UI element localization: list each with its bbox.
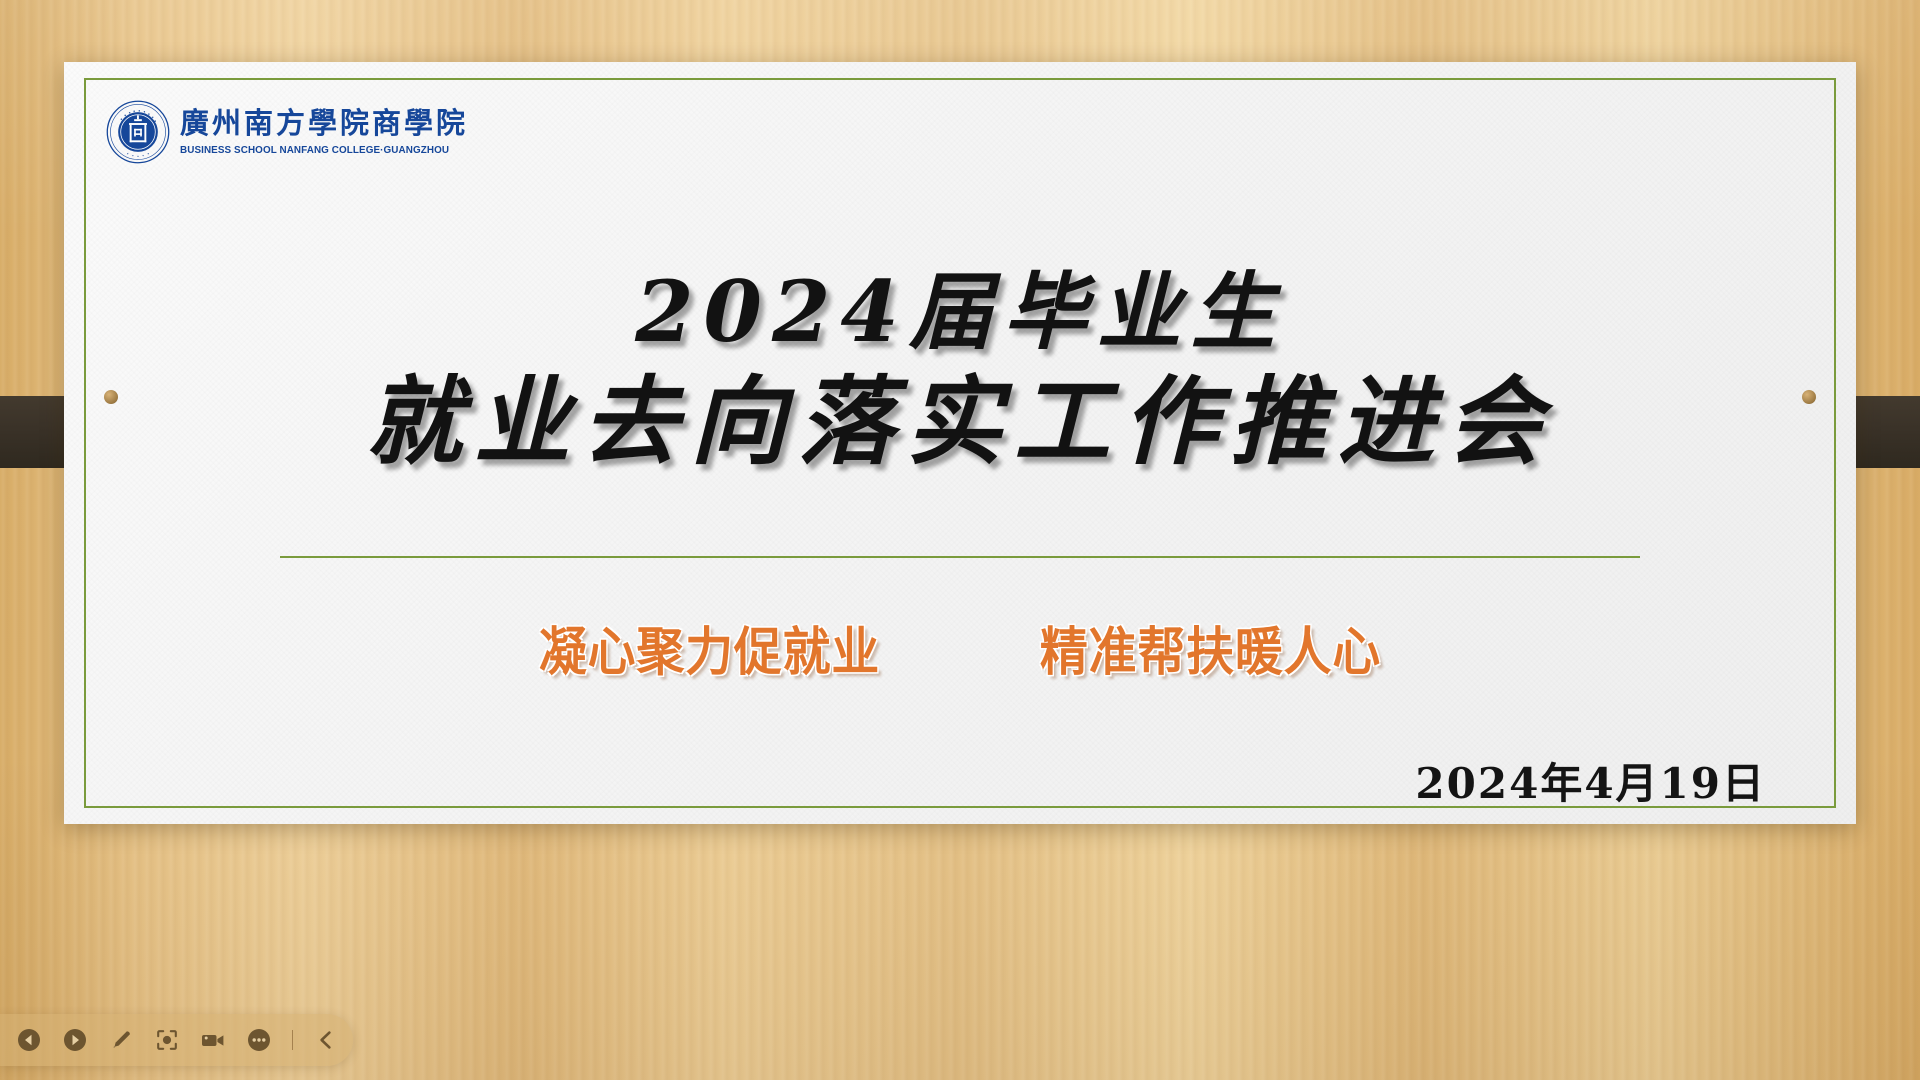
screenshot-icon[interactable]	[154, 1027, 180, 1053]
banner-knob-left	[104, 390, 118, 404]
school-name-en: BUSINESS SCHOOL NANFANG COLLEGE·GUANGZHO…	[180, 144, 451, 156]
school-name-cn: 廣州南方學院商學院	[180, 108, 468, 140]
previous-slide-icon[interactable]	[16, 1027, 42, 1053]
toolbar-separator	[292, 1030, 293, 1050]
banner-knob-right	[1802, 390, 1816, 404]
title-line-2: 就业去向落实工作推进会	[64, 365, 1856, 478]
slogan-row: 凝心聚力促就业 精准帮扶暖人心	[64, 610, 1856, 685]
collapse-toolbar-icon[interactable]	[313, 1027, 339, 1053]
presentation-toolbar	[0, 1014, 353, 1066]
school-logo: 廣州南方學院商學院 BUSINESS SCHOOL NANFANG COLLEG…	[106, 100, 468, 164]
more-options-icon[interactable]	[246, 1027, 272, 1053]
next-slide-icon[interactable]	[62, 1027, 88, 1053]
title-line-1: 2024届毕业生	[64, 262, 1856, 361]
slogan-right: 精准帮扶暖人心	[1040, 610, 1381, 685]
title-divider-rule	[280, 556, 1640, 558]
pen-icon[interactable]	[108, 1027, 134, 1053]
school-logo-text: 廣州南方學院商學院 BUSINESS SCHOOL NANFANG COLLEG…	[180, 108, 468, 155]
presentation-stage: 廣州南方學院商學院 BUSINESS SCHOOL NANFANG COLLEG…	[0, 0, 1920, 1080]
event-date: 2024年4月19日	[1415, 750, 1766, 811]
slide-title: 2024届毕业生 就业去向落实工作推进会	[64, 262, 1856, 478]
record-video-icon[interactable]	[200, 1027, 226, 1053]
slide-canvas: 廣州南方學院商學院 BUSINESS SCHOOL NANFANG COLLEG…	[64, 62, 1856, 824]
university-seal-icon	[106, 100, 170, 164]
slogan-left: 凝心聚力促就业	[539, 610, 880, 685]
